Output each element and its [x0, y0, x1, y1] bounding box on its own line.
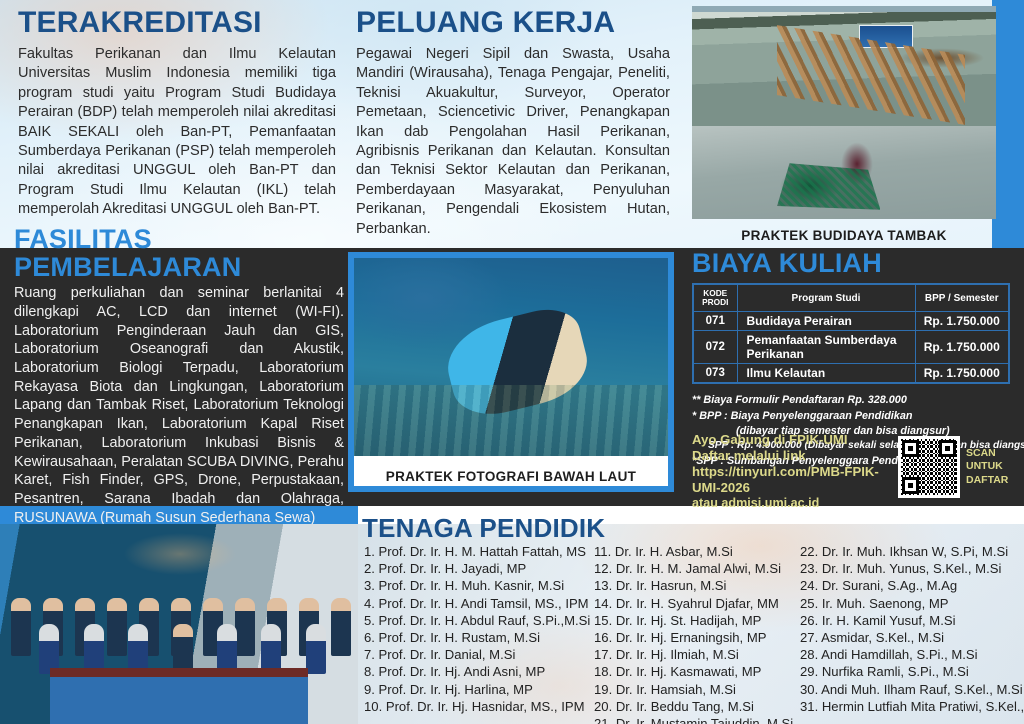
photo-diver-image: [354, 258, 668, 456]
tuition-table-row: 073Ilmu KelautanRp. 1.750.000: [693, 364, 1009, 384]
lecturer-list-item: 12. Dr. Ir. H. M. Jamal Alwi, M.Si: [594, 560, 800, 577]
tuition-cell-prodi: Ilmu Kelautan: [737, 364, 915, 384]
tuition-cell-bpp: Rp. 1.750.000: [915, 312, 1009, 331]
accreditation-title: TERAKREDITASI: [18, 8, 336, 38]
tuition-table-row: 072Pemanfaatan Sumberdaya PerikananRp. 1…: [693, 331, 1009, 364]
cta-line-2: Daftar melalui link: [692, 448, 904, 464]
lecturer-list-item: 6. Prof. Dr. Ir. H. Rustam, M.Si: [364, 629, 594, 646]
section-job-opportunities: PELUANG KERJA Pegawai Negeri Sipil dan S…: [356, 8, 670, 239]
lecturer-list-item: 22. Dr. Ir. Muh. Ikhsan W, S.Pi, M.Si: [800, 543, 1024, 560]
facilities-title-line1: FASILITAS: [14, 226, 344, 254]
section-lecturers: TENAGA PENDIDIK 1. Prof. Dr. Ir. H. M. H…: [358, 512, 1024, 724]
tuition-note-1: ** Biaya Formulir Pendaftaran Rp. 328.00…: [692, 393, 1010, 408]
tuition-table-body: 071Budidaya PerairanRp. 1.750.000072Pema…: [693, 312, 1009, 384]
tuition-table-row: 071Budidaya PerairanRp. 1.750.000: [693, 312, 1009, 331]
tuition-table: KODE PRODI Program Studi BPP / Semester …: [692, 283, 1010, 384]
lecturers-column-1: 1. Prof. Dr. Ir. H. M. Hattah Fattah, MS…: [358, 543, 594, 724]
tuition-table-header-row: KODE PRODI Program Studi BPP / Semester: [693, 284, 1009, 312]
qr-finder-top-right: [939, 440, 956, 457]
tuition-header-kode: KODE PRODI: [693, 284, 737, 312]
poster-root: TERAKREDITASI Fakultas Perikanan dan Ilm…: [0, 0, 1024, 724]
lecturer-list-item: 8. Prof. Dr. Ir. Hj. Andi Asni, MP: [364, 663, 594, 680]
lecturer-list-item: 21. Dr. Ir. Mustamin Tajuddin, M.Si: [594, 715, 800, 724]
lecturer-list-item: 20. Dr. Ir. Beddu Tang, M.Si: [594, 698, 800, 715]
photo-faculty-group: [0, 524, 358, 724]
tuition-cell-bpp: Rp. 1.750.000: [915, 364, 1009, 384]
lecturer-list-item: 9. Prof. Dr. Ir. Hj. Harlina, MP: [364, 681, 594, 698]
lecturer-list-item: 3. Prof. Dr. Ir. H. Muh. Kasnir, M.Si: [364, 577, 594, 594]
lecturer-list-item: 2. Prof. Dr. Ir. H. Jayadi, MP: [364, 560, 594, 577]
lecturer-list-item: 30. Andi Muh. Ilham Rauf, S.Kel., M.Si: [800, 681, 1024, 698]
lecturer-list-item: 26. Ir. H. Kamil Yusuf, M.Si: [800, 612, 1024, 629]
photo-caption-diver: PRAKTEK FOTOGRAFI BAWAH LAUT: [354, 456, 668, 486]
photo-caption-tambak: PRAKTEK BUDIDAYA TAMBAK: [692, 222, 996, 243]
qr-code-icon[interactable]: [898, 436, 960, 498]
lecturer-list-item: 7. Prof. Dr. Ir. Danial, M.Si: [364, 646, 594, 663]
job-opportunities-title: PELUANG KERJA: [356, 8, 670, 38]
lecturer-list-item: 18. Dr. Ir. Hj. Kasmawati, MP: [594, 663, 800, 680]
lecturer-list-item: 14. Dr. Ir. H. Syahrul Djafar, MM: [594, 595, 800, 612]
lecturer-list-item: 31. Hermin Lutfiah Mita Pratiwi, S.Kel.,…: [800, 698, 1024, 715]
tuition-cell-prodi: Pemanfaatan Sumberdaya Perikanan: [737, 331, 915, 364]
tuition-cell-prodi: Budidaya Perairan: [737, 312, 915, 331]
lecturer-list-item: 17. Dr. Ir. Hj. Ilmiah, M.Si: [594, 646, 800, 663]
tuition-header-bpp: BPP / Semester: [915, 284, 1009, 312]
job-opportunities-body: Pegawai Negeri Sipil dan Swasta, Usaha M…: [356, 45, 670, 239]
lecturer-list-item: 27. Asmidar, S.Kel., M.Si: [800, 629, 1024, 646]
accreditation-body: Fakultas Perikanan dan Ilmu Kelautan Uni…: [18, 45, 336, 220]
photo-underwater-photography: PRAKTEK FOTOGRAFI BAWAH LAUT: [348, 252, 674, 492]
lecturer-list-item: 24. Dr. Surani, S.Ag., M.Ag: [800, 577, 1024, 594]
lecturer-list-item: 1. Prof. Dr. Ir. H. M. Hattah Fattah, MS: [364, 543, 594, 560]
lecturers-columns: 1. Prof. Dr. Ir. H. M. Hattah Fattah, MS…: [358, 543, 1024, 724]
qr-label-line3: DAFTAR: [966, 474, 1008, 487]
lecturer-list-item: 29. Nurfika Ramli, S.Pi., M.Si: [800, 663, 1024, 680]
cta-line-1: Ayo Gabung di FPIK-UMI: [692, 432, 904, 448]
lecturers-title: TENAGA PENDIDIK: [362, 515, 1024, 541]
photo-fisherman-net: [692, 126, 996, 219]
right-blue-accent-strip: [992, 0, 1024, 248]
lecturer-list-item: 4. Prof. Dr. Ir. H. Andi Tamsil, MS., IP…: [364, 595, 594, 612]
section-facilities: FASILITAS PEMBELAJARAN Ruang perkuliahan…: [14, 226, 344, 527]
lecturer-list-item: 13. Dr. Ir. Hasrun, M.Si: [594, 577, 800, 594]
tuition-cell-kode: 073: [693, 364, 737, 384]
qr-label-line1: SCAN: [966, 447, 1008, 460]
section-accreditation: TERAKREDITASI Fakultas Perikanan dan Ilm…: [18, 8, 336, 220]
lecturer-list-item: 15. Dr. Ir. Hj. St. Hadijah, MP: [594, 612, 800, 629]
facilities-title-line2: PEMBELAJARAN: [14, 254, 344, 282]
tuition-title: BIAYA KULIAH: [692, 250, 1010, 277]
lecturer-list-item: 25. Ir. Muh. Saenong, MP: [800, 595, 1024, 612]
photo-budidaya-tambak: [692, 6, 996, 219]
qr-label: SCAN UNTUK DAFTAR: [966, 447, 1008, 487]
tuition-cell-kode: 072: [693, 331, 737, 364]
lecturer-list-item: 16. Dr. Ir. Hj. Ernaningsih, MP: [594, 629, 800, 646]
tuition-header-kode-line2: PRODI: [702, 297, 728, 307]
cta-registration-link[interactable]: https://tinyurl.com/PMB-FPIK-UMI-2026: [692, 464, 904, 496]
photo-group-desk: [50, 668, 308, 724]
qr-finder-bottom-left: [902, 477, 919, 494]
qr-label-line2: UNTUK: [966, 460, 1008, 473]
tuition-header-prodi: Program Studi: [737, 284, 915, 312]
cta-text-block: Ayo Gabung di FPIK-UMI Daftar melalui li…: [692, 432, 904, 512]
lecturers-column-2: 11. Dr. Ir. H. Asbar, M.Si12. Dr. Ir. H.…: [594, 543, 800, 724]
photo-pond-walkway: [692, 6, 996, 126]
lecturers-column-3: 22. Dr. Ir. Muh. Ikhsan W, S.Pi, M.Si23.…: [800, 543, 1024, 724]
cta-alt-link[interactable]: atau admisi.umi.ac.id: [692, 496, 904, 511]
section-registration-cta: Ayo Gabung di FPIK-UMI Daftar melalui li…: [692, 432, 1010, 512]
qr-block: SCAN UNTUK DAFTAR: [898, 436, 1008, 498]
lecturer-list-item: 10. Prof. Dr. Ir. Hj. Hasnidar, MS., IPM: [364, 698, 594, 715]
lecturer-list-item: 23. Dr. Ir. Muh. Yunus, S.Kel., M.Si: [800, 560, 1024, 577]
lecturer-list-item: 19. Dr. Ir. Hamsiah, M.Si: [594, 681, 800, 698]
lecturer-list-item: 11. Dr. Ir. H. Asbar, M.Si: [594, 543, 800, 560]
tuition-note-2: * BPP : Biaya Penyelenggaraan Pendidikan: [692, 409, 1010, 424]
qr-finder-top-left: [902, 440, 919, 457]
tuition-cell-kode: 071: [693, 312, 737, 331]
facilities-body: Ruang perkuliahan dan seminar berlanitai…: [14, 284, 344, 527]
lecturer-list-item: 5. Prof. Dr. Ir. H. Abdul Rauf, S.Pi.,M.…: [364, 612, 594, 629]
tuition-cell-bpp: Rp. 1.750.000: [915, 331, 1009, 364]
lecturer-list-item: 28. Andi Hamdillah, S.Pi., M.Si: [800, 646, 1024, 663]
